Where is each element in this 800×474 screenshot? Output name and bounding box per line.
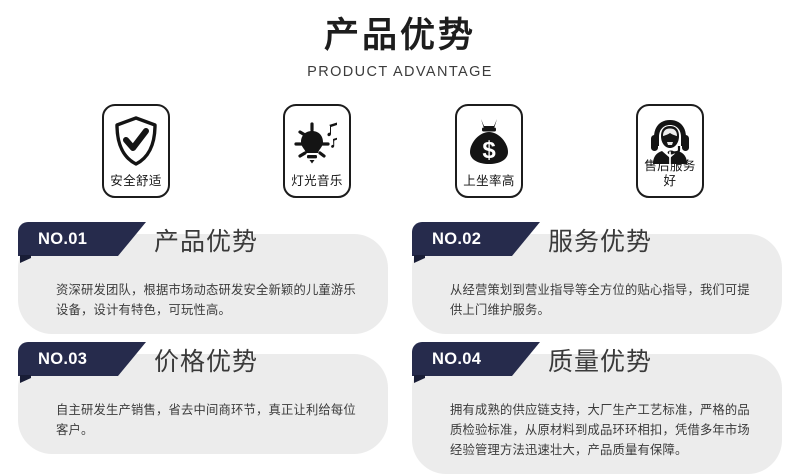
feature-icon-row: 安全舒适 灯光音乐 [0, 104, 800, 204]
lightbulb-music-icon [285, 113, 349, 169]
page-subtitle: PRODUCT ADVANTAGE [0, 62, 800, 82]
card-description: 拥有成熟的供应链支持，大厂生产工艺标准，严格的品质检验标准，从原材料到成品环环相… [450, 400, 756, 460]
card-description: 从经营策划到营业指导等全方位的贴心指导，我们可提供上门维护服务。 [450, 280, 756, 320]
advantage-card-grid: 资深研发团队，根据市场动态研发安全新颖的儿童游乐设备，设计有特色，可玩性高。 N… [0, 222, 800, 462]
card-number: NO.04 [432, 342, 481, 376]
feature-label: 上坐率高 [457, 174, 521, 189]
feature-box-light-music[interactable]: 灯光音乐 [283, 104, 351, 198]
card-badge: NO.03 [18, 342, 146, 376]
card-title: 产品优势 [154, 222, 258, 258]
card-description: 自主研发生产销售，省去中间商环节，真正让利给每位客户。 [56, 400, 362, 440]
page-title: 产品优势 [0, 14, 800, 58]
card-badge: NO.02 [412, 222, 540, 256]
card-number: NO.03 [38, 342, 87, 376]
card-title: 服务优势 [548, 222, 652, 258]
feature-box-after-sales[interactable]: 售后服务好 [636, 104, 704, 198]
svg-text:$: $ [482, 137, 496, 164]
card-number: NO.02 [432, 222, 481, 256]
card-badge: NO.01 [18, 222, 146, 256]
money-bag-icon: $ [457, 113, 521, 169]
feature-box-safety[interactable]: 安全舒适 [102, 104, 170, 198]
feature-label: 安全舒适 [104, 174, 168, 189]
feature-box-occupancy[interactable]: $ 上坐率高 [455, 104, 523, 198]
card-description: 资深研发团队，根据市场动态研发安全新颖的儿童游乐设备，设计有特色，可玩性高。 [56, 280, 362, 320]
card-badge: NO.04 [412, 342, 540, 376]
card-title: 质量优势 [548, 342, 652, 378]
card-title: 价格优势 [154, 342, 258, 378]
shield-check-icon [104, 113, 168, 169]
page-header: 产品优势 PRODUCT ADVANTAGE [0, 14, 800, 82]
card-number: NO.01 [38, 222, 87, 256]
feature-label: 售后服务好 [638, 159, 702, 189]
feature-label: 灯光音乐 [285, 174, 349, 189]
